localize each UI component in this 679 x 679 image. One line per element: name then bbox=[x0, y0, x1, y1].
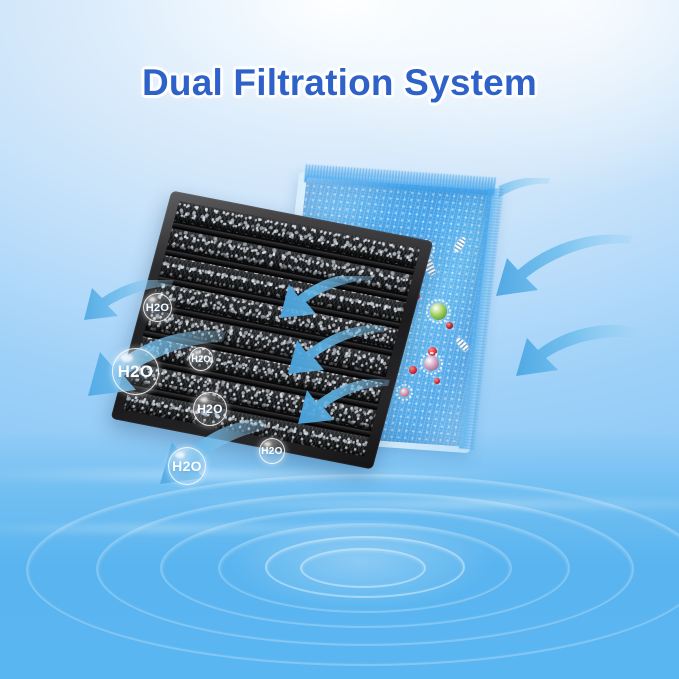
h2o-bubble-label: H2O bbox=[191, 354, 210, 364]
infographic-canvas: Dual Filtration System bbox=[0, 0, 679, 679]
h2o-bubble: H2O bbox=[143, 293, 172, 322]
h2o-bubble: H2O bbox=[193, 392, 227, 426]
h2o-bubble-label: H2O bbox=[172, 458, 202, 474]
h2o-bubble-label: H2O bbox=[197, 402, 223, 416]
filter-assembly: H2OH2OH2OH2OH2OH2O bbox=[0, 0, 679, 560]
h2o-bubble-label: H2O bbox=[146, 302, 170, 314]
steps-row: 1 2 3 Filter sediment & impurities. keep… bbox=[0, 548, 679, 679]
h2o-bubble-layer: H2OH2OH2OH2OH2OH2O bbox=[0, 0, 679, 560]
h2o-bubble: H2O bbox=[189, 347, 213, 371]
h2o-bubble: H2O bbox=[112, 348, 159, 395]
h2o-bubble: H2O bbox=[168, 447, 206, 485]
h2o-bubble-label: H2O bbox=[118, 362, 154, 382]
h2o-bubble-label: H2O bbox=[261, 446, 282, 457]
h2o-bubble: H2O bbox=[259, 438, 285, 464]
